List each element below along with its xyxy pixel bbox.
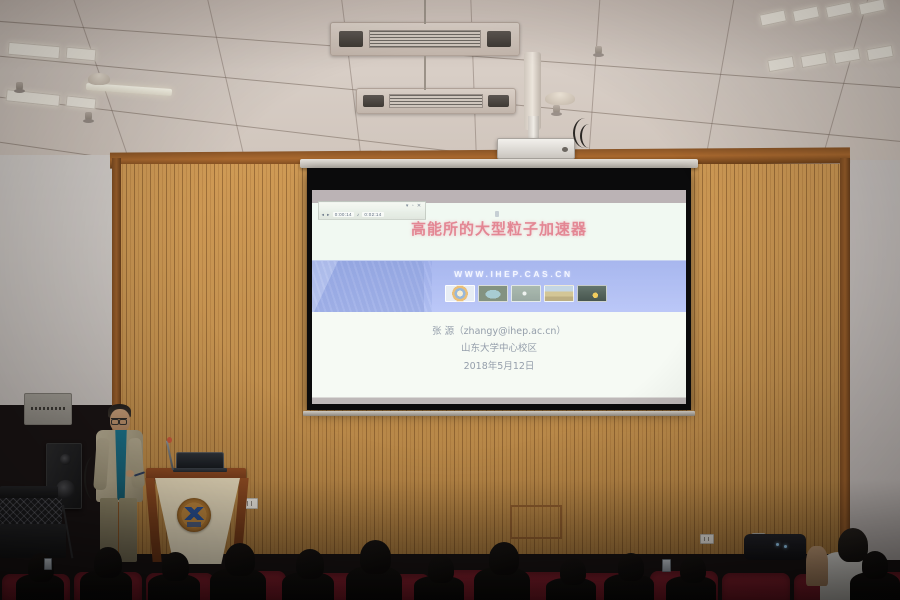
presenter-hand bbox=[126, 470, 134, 477]
camera-bag bbox=[744, 534, 806, 560]
slide-affiliation-line: 山东大学中心校区 bbox=[312, 340, 686, 358]
projection-screen-frame[interactable]: ▾ ▫ ✕ ◂ ▸ 0:00:14 ♪ 0:02:14 高能所的大型粒子加速器 … bbox=[307, 168, 691, 410]
sprinkler-head bbox=[553, 105, 560, 115]
audience-phone[interactable] bbox=[44, 558, 52, 570]
audience-head bbox=[489, 542, 519, 575]
audience-head bbox=[296, 549, 324, 579]
audience-head bbox=[162, 552, 189, 581]
screen-weight-bar bbox=[303, 411, 695, 416]
smoke-detector bbox=[88, 73, 110, 85]
ceiling-speaker-dome bbox=[545, 92, 575, 105]
ceiling-panel-light bbox=[66, 47, 97, 62]
sprinkler-head bbox=[595, 46, 602, 56]
player-total-time: 0:02:14 bbox=[362, 212, 383, 217]
mouse-cursor bbox=[495, 211, 499, 217]
player-window-controls[interactable]: ▾ ▫ ✕ bbox=[406, 203, 422, 209]
presenter-glasses bbox=[111, 418, 127, 419]
speaker-driver-cone bbox=[56, 480, 75, 499]
presenter-laptop-base[interactable] bbox=[173, 468, 227, 472]
player-elapsed-time: 0:00:14 bbox=[333, 212, 354, 217]
banner-thumbnail-strip bbox=[445, 285, 607, 302]
upper-wall-right bbox=[848, 160, 900, 560]
sprinkler-head bbox=[85, 112, 92, 122]
banner-url-text: WWW.IHEP.CAS.CN bbox=[454, 269, 573, 279]
wall-access-panel bbox=[510, 505, 562, 539]
screen-roller-housing bbox=[300, 159, 698, 168]
ac-ceiling-vent bbox=[330, 22, 520, 56]
projected-slide: ▾ ▫ ✕ ◂ ▸ 0:00:14 ♪ 0:02:14 高能所的大型粒子加速器 … bbox=[312, 190, 686, 404]
lecture-hall-photo: ▾ ▫ ✕ ◂ ▸ 0:00:14 ♪ 0:02:14 高能所的大型粒子加速器 … bbox=[0, 0, 900, 600]
thumbnail-synchrotron-ring bbox=[478, 285, 508, 302]
av-cable bbox=[84, 456, 104, 500]
projector-mount-pole bbox=[528, 116, 539, 140]
equipment-cart-top bbox=[0, 486, 58, 498]
wall-corner-post-right bbox=[840, 158, 850, 558]
audience-head bbox=[862, 551, 888, 579]
audience-head bbox=[560, 558, 586, 585]
ceiling-projector bbox=[497, 138, 575, 159]
seat bbox=[722, 573, 790, 600]
shandong-university-emblem bbox=[177, 498, 211, 532]
slide-presenter-line: 张 源（zhangy@ihep.ac.cn） bbox=[312, 323, 686, 341]
camera-indicator-led bbox=[784, 545, 787, 548]
thumbnail-accelerator-complex bbox=[511, 285, 541, 302]
projector-lens bbox=[562, 147, 568, 152]
audience-phone[interactable] bbox=[662, 559, 671, 572]
speaker-tweeter bbox=[60, 454, 71, 465]
sprinkler-head bbox=[16, 82, 23, 92]
audience-head bbox=[428, 555, 454, 583]
thumbnail-detector-cross-section bbox=[445, 285, 475, 302]
projector-cable bbox=[580, 124, 598, 148]
upper-wall-left bbox=[0, 155, 126, 405]
ceiling-hanger-rod bbox=[424, 0, 426, 24]
slide-banner-band: WWW.IHEP.CAS.CN bbox=[312, 261, 686, 312]
banner-facility-photo bbox=[312, 261, 432, 312]
audience-head bbox=[680, 556, 706, 583]
audience-head bbox=[225, 543, 255, 576]
slide-title: 高能所的大型粒子加速器 bbox=[312, 218, 686, 239]
slide-subtitle-block: 张 源（zhangy@ihep.ac.cn） 山东大学中心校区 2018年5月1… bbox=[312, 323, 686, 376]
wall-notice-plaque bbox=[24, 393, 72, 425]
audience-head bbox=[618, 553, 644, 581]
ceiling-hanger-rod bbox=[424, 56, 426, 90]
audience-raised-arm bbox=[806, 546, 828, 586]
thumbnail-cosmic-ray-array bbox=[577, 285, 607, 302]
audience-head bbox=[360, 540, 391, 574]
microphone-head bbox=[167, 437, 172, 443]
wall-notice-text bbox=[31, 407, 66, 410]
camera-indicator-led bbox=[776, 543, 779, 546]
slide-date-line: 2018年5月12日 bbox=[312, 358, 686, 376]
ac-ceiling-vent bbox=[356, 88, 516, 114]
audience-head bbox=[94, 547, 122, 578]
player-volume-icon[interactable]: ♪ bbox=[357, 212, 360, 217]
thumbnail-desert-site bbox=[544, 285, 574, 302]
